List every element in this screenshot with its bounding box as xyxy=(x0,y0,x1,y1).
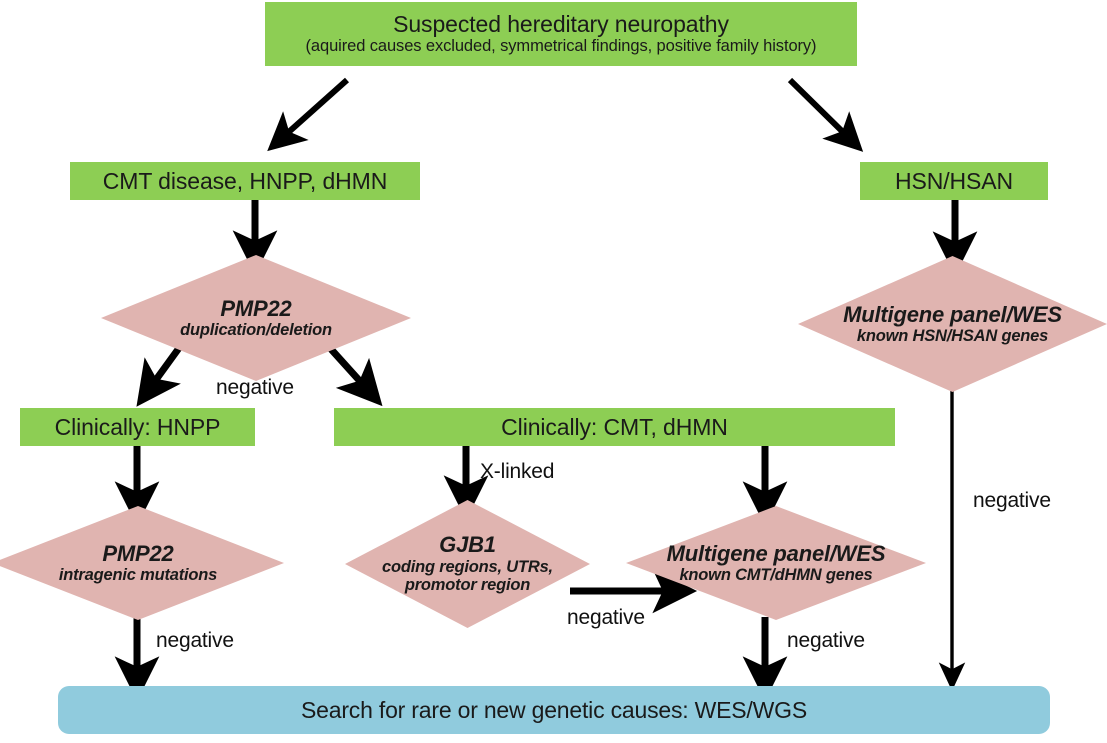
final-label: Search for rare or new genetic causes: W… xyxy=(301,697,807,724)
multigene-hsn-title: Multigene panel/WES xyxy=(843,303,1062,327)
gjb1-detail-1: coding regions, UTRs, xyxy=(382,558,553,576)
node-pmp22-intragenic-mutations: PMP22 intragenic mutations xyxy=(0,506,284,620)
edge-root-to-cmt xyxy=(282,80,347,138)
node-suspected-hereditary-neuropathy: Suspected hereditary neuropathy (aquired… xyxy=(265,2,857,66)
gjb1-gene: GJB1 xyxy=(439,533,496,557)
edge-label-multigene-cmt-negative: negative xyxy=(787,629,865,653)
node-multigene-panel-wes-cmt: Multigene panel/WES known CMT/dHMN genes xyxy=(626,506,926,620)
multigene-cmt-title: Multigene panel/WES xyxy=(667,542,886,566)
node-clinically-hnpp: Clinically: HNPP xyxy=(20,408,255,446)
edge-label-pmp22-intragenic-negative: negative xyxy=(156,629,234,653)
node-search-rare-new-genetic-causes: Search for rare or new genetic causes: W… xyxy=(58,686,1050,734)
pmp22-intragenic-detail: intragenic mutations xyxy=(59,566,217,584)
clinically-cmt-label: Clinically: CMT, dHMN xyxy=(501,415,728,440)
edge-label-multigene-hsn-negative: negative xyxy=(973,489,1051,513)
node-multigene-panel-wes-hsn: Multigene panel/WES known HSN/HSAN genes xyxy=(798,256,1107,392)
node-hsn-hsan: HSN/HSAN xyxy=(860,162,1048,200)
node-clinically-cmt-dhmn: Clinically: CMT, dHMN xyxy=(334,408,895,446)
flowchart-diagram: Suspected hereditary neuropathy (aquired… xyxy=(0,0,1107,743)
multigene-hsn-detail: known HSN/HSAN genes xyxy=(857,327,1048,345)
pmp22-dup-detail: duplication/deletion xyxy=(180,321,332,339)
edge-root-to-hsn xyxy=(790,80,849,138)
root-subtitle: (aquired causes excluded, symmetrical fi… xyxy=(306,37,817,56)
edge-label-x-linked: X-linked xyxy=(480,460,554,484)
node-pmp22-duplication-deletion: PMP22 duplication/deletion xyxy=(101,255,411,381)
root-title: Suspected hereditary neuropathy xyxy=(393,12,729,37)
hsn-branch-label: HSN/HSAN xyxy=(895,169,1013,194)
pmp22-intragenic-gene: PMP22 xyxy=(102,542,173,566)
node-gjb1: GJB1 coding regions, UTRs, promotor regi… xyxy=(345,500,590,628)
edge-label-gjb1-negative: negative xyxy=(567,606,645,630)
pmp22-dup-gene: PMP22 xyxy=(220,297,291,321)
multigene-cmt-detail: known CMT/dHMN genes xyxy=(679,566,872,584)
clinically-hnpp-label: Clinically: HNPP xyxy=(55,415,221,440)
gjb1-detail-2: promotor region xyxy=(405,576,530,594)
cmt-branch-label: CMT disease, HNPP, dHMN xyxy=(103,169,387,194)
node-cmt-disease-hnpp-dhmn: CMT disease, HNPP, dHMN xyxy=(70,162,420,200)
edge-label-pmp22-negative: negative xyxy=(216,376,294,400)
